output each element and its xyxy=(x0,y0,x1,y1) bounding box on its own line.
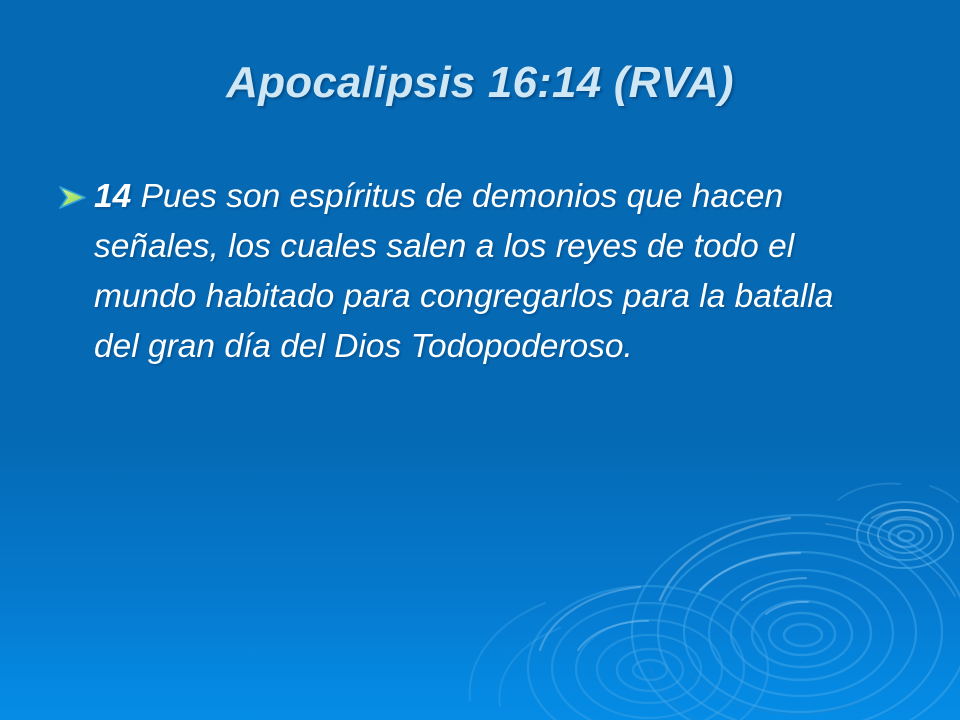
verse-body: Pues son espíritus de demonios que hacen… xyxy=(94,178,833,365)
ripple-edge-left xyxy=(470,603,560,706)
slide-body: 14 Pues son espíritus de demonios que ha… xyxy=(58,172,918,372)
ripple-arc-fragments xyxy=(838,484,958,502)
ripple-large-center xyxy=(632,515,960,720)
ripple-small-top-right xyxy=(857,502,953,568)
ripple-lower-left xyxy=(528,586,768,720)
ripple-large-center-highlight xyxy=(660,518,955,614)
presentation-slide: Apocalipsis 16:14 (RVA) 14 Pues son espí… xyxy=(0,0,960,720)
bullet-list-item: 14 Pues son espíritus de demonios que ha… xyxy=(58,172,918,372)
ripple-large-center-shadow xyxy=(650,668,880,720)
slide-title: Apocalipsis 16:14 (RVA) xyxy=(0,58,960,108)
ripple-lower-left-highlight xyxy=(540,587,648,650)
arrow-bullet-icon xyxy=(58,172,94,211)
verse-number: 14 xyxy=(94,178,131,215)
ripple-small-top-right-highlight xyxy=(872,510,938,526)
verse-text: 14 Pues son espíritus de demonios que ha… xyxy=(94,172,884,372)
